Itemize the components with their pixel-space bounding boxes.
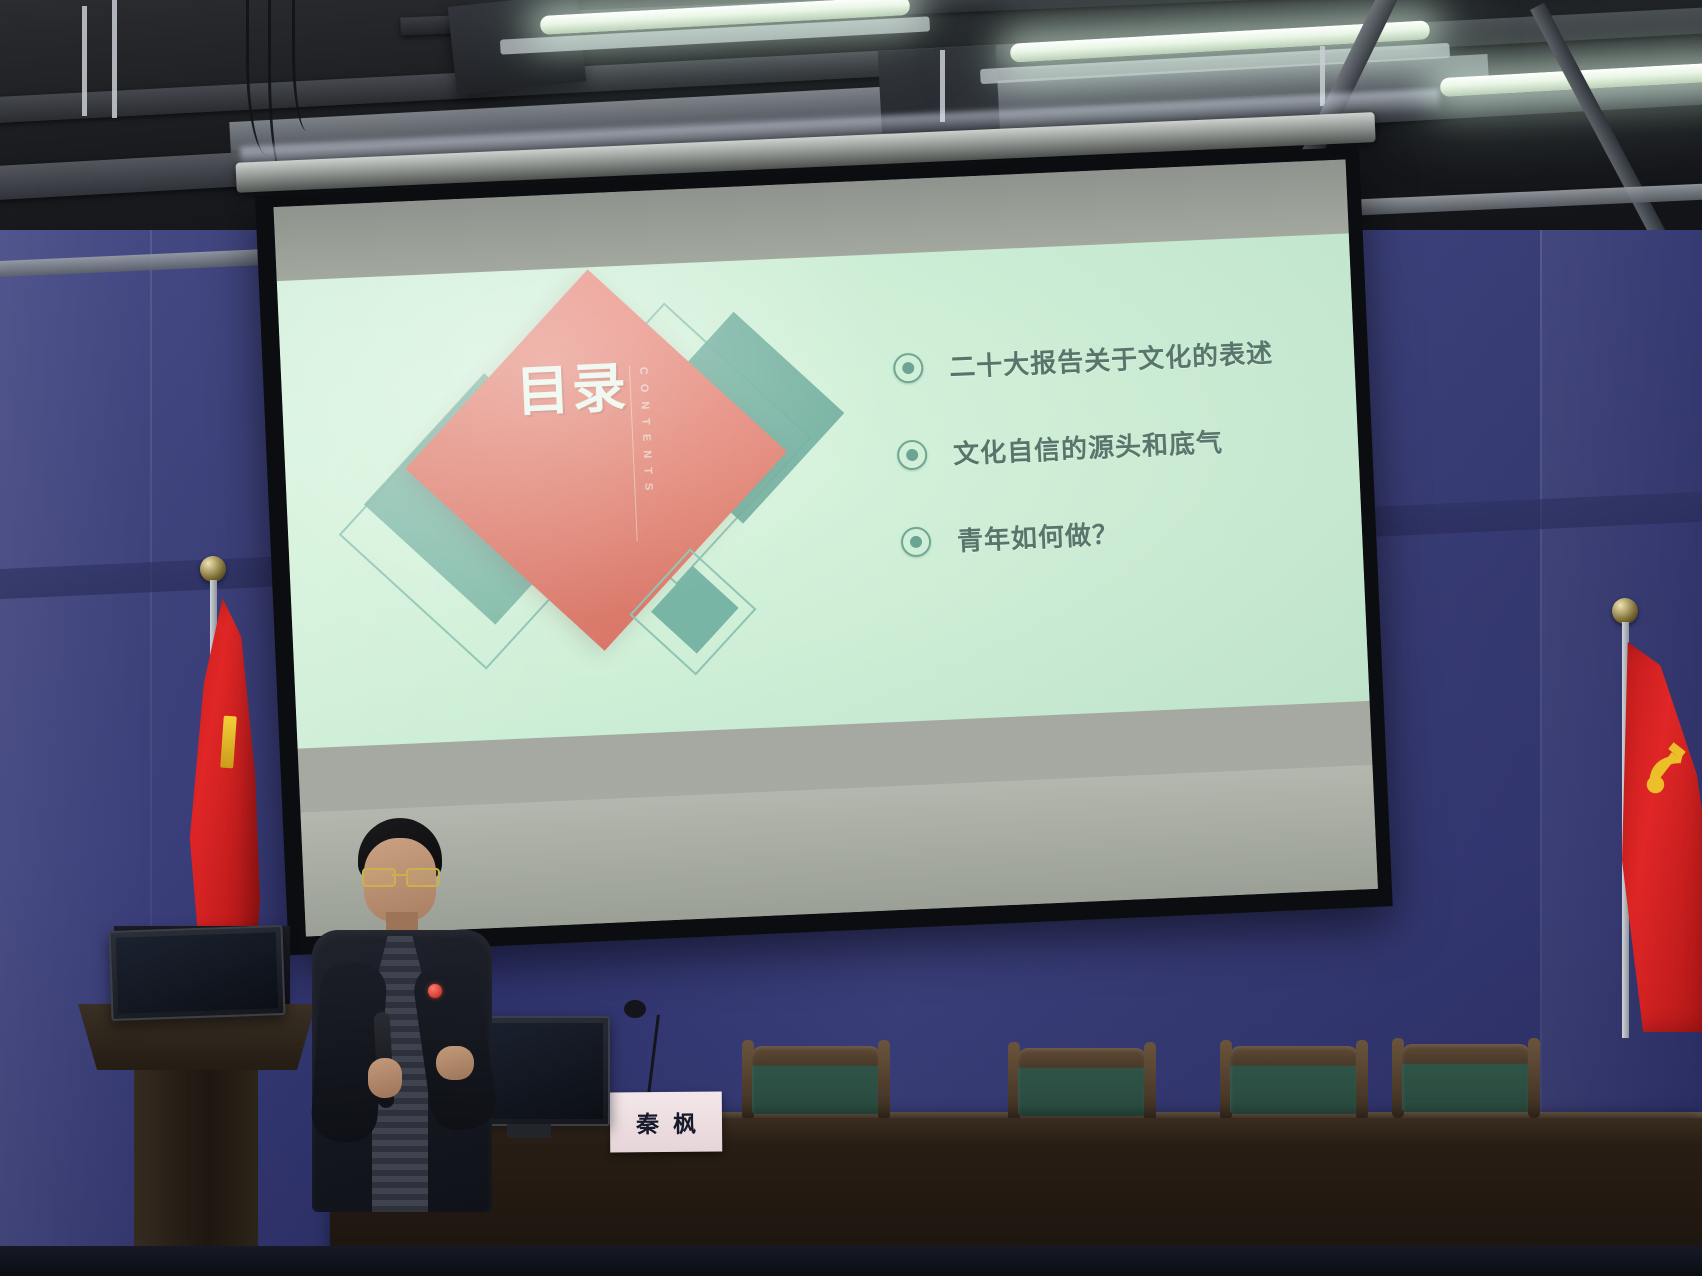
bullet-label: 文化自信的源头和底气 — [952, 422, 1223, 471]
flag-finial-ornament — [200, 556, 226, 582]
conference-chair — [1008, 1042, 1156, 1124]
ring-dot-bullet-icon — [897, 439, 928, 470]
diamond-artwork: 目录 CONTENTS — [357, 270, 896, 733]
lens-right — [406, 868, 440, 887]
chair-back — [752, 1046, 880, 1114]
stage-floor — [0, 1246, 1702, 1276]
slide-bullet-list: 二十大报告关于文化的表述 文化自信的源头和底气 青年 — [892, 329, 1369, 611]
microphone-head-icon — [624, 1000, 646, 1018]
bullet-dot — [902, 361, 915, 374]
chair-back — [1402, 1044, 1530, 1112]
name-card-placard: 秦 枫 — [610, 1092, 723, 1153]
chair-back — [1018, 1048, 1146, 1116]
presenter-person — [300, 812, 520, 1212]
bullet-dot — [910, 535, 923, 548]
lectern-podium — [78, 1004, 316, 1276]
light-hanger — [82, 6, 87, 116]
national-flag — [168, 556, 288, 986]
ring-dot-bullet-icon — [893, 352, 924, 383]
party-flag — [1596, 598, 1702, 1038]
conference-chair — [742, 1040, 890, 1122]
presenter-hand-left — [368, 1058, 402, 1098]
chair-arm — [1144, 1042, 1156, 1122]
stage-monitor — [108, 925, 285, 1021]
flag-cloth — [1622, 642, 1702, 1032]
slide-heading-cn: 目录 — [511, 359, 633, 421]
presenter-hand-right — [436, 1046, 474, 1080]
flag-finial-ornament — [1612, 598, 1638, 624]
chair-arm — [1356, 1040, 1368, 1120]
list-item: 二十大报告关于文化的表述 — [892, 329, 1363, 387]
party-badge-icon — [428, 984, 442, 998]
bullet-label: 青年如何做？ — [956, 514, 1120, 558]
list-item: 文化自信的源头和底气 — [896, 416, 1367, 474]
podium-column — [134, 1066, 258, 1276]
eyeglasses-icon — [360, 868, 440, 884]
lens-bridge — [392, 874, 406, 876]
monitor-screen — [116, 932, 279, 1014]
lens-left — [362, 868, 396, 887]
ring-dot-bullet-icon — [900, 526, 931, 557]
name-char-first: 秦 — [636, 1105, 659, 1139]
lecture-hall-photo: 目录 CONTENTS 二十大报告关于文化的表述 — [0, 0, 1702, 1276]
light-hanger — [940, 50, 945, 122]
presentation-slide: 目录 CONTENTS 二十大报告关于文化的表述 — [277, 233, 1370, 748]
light-hanger — [112, 0, 117, 118]
chair-arm — [878, 1040, 890, 1120]
conference-chair — [1392, 1038, 1540, 1120]
bullet-label: 二十大报告关于文化的表述 — [948, 333, 1273, 384]
chair-back — [1230, 1046, 1358, 1114]
list-item: 青年如何做？ — [900, 503, 1369, 561]
conference-chair — [1220, 1040, 1368, 1122]
name-char-second: 枫 — [673, 1105, 696, 1139]
chair-arm — [1528, 1038, 1540, 1118]
hammer-and-sickle-icon — [1640, 742, 1698, 804]
bullet-dot — [906, 448, 919, 461]
